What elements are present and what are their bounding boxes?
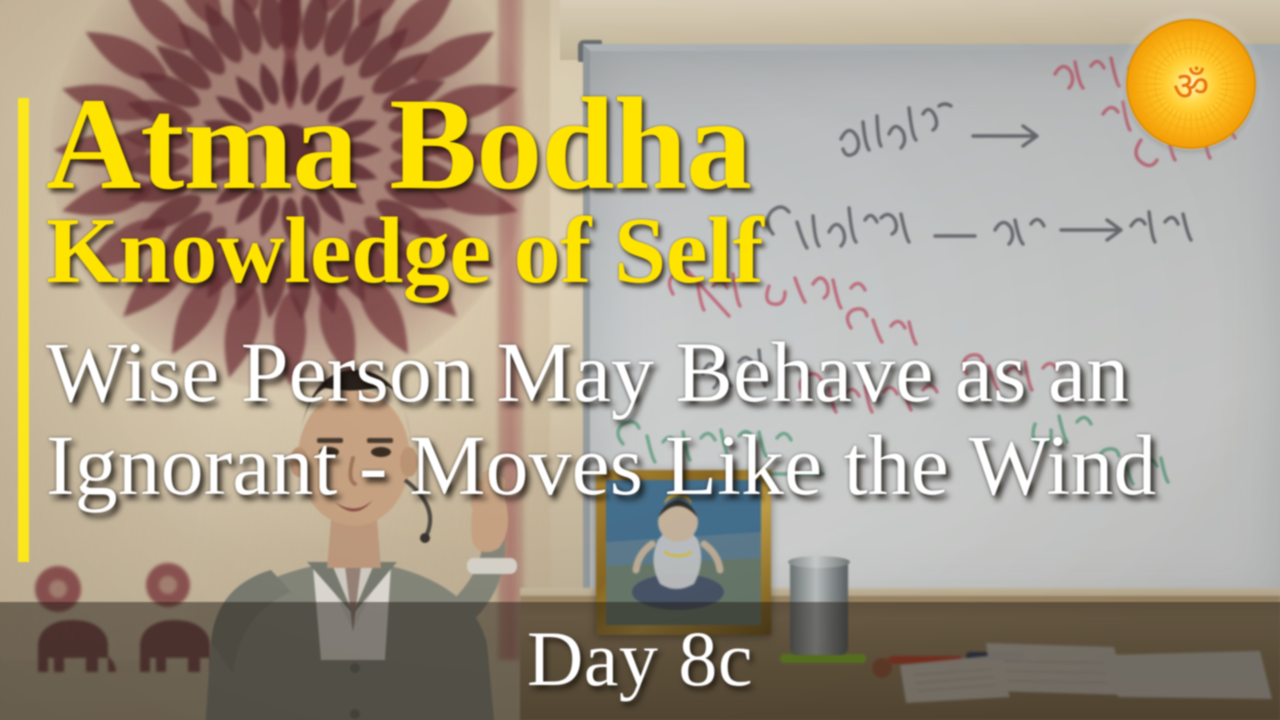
photo-softening-layer (0, 0, 1280, 720)
title-card: Atma Bodha Knowledge of Self Wise Person… (0, 0, 1280, 720)
